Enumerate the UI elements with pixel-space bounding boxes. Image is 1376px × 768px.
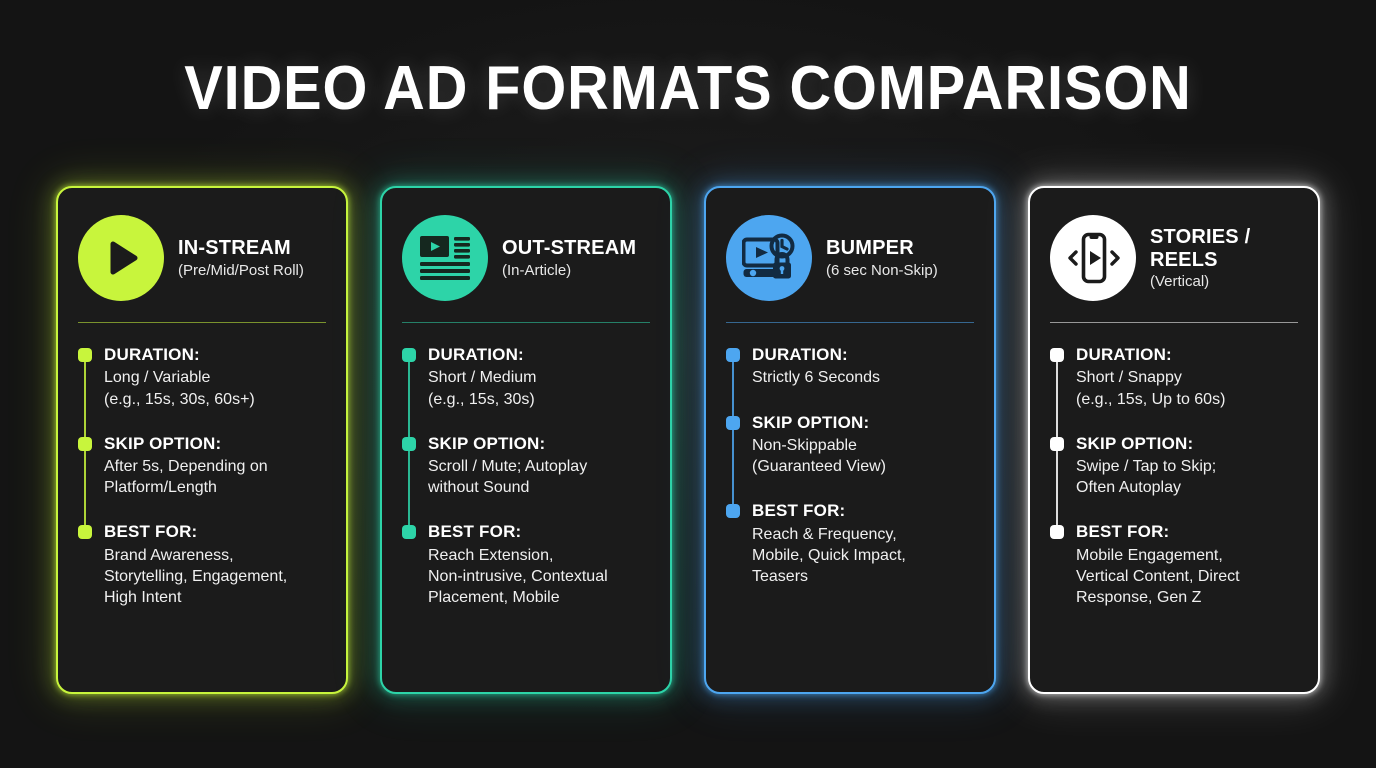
attribute-row: BEST FOR:Mobile Engagement, Vertical Con…	[1076, 522, 1298, 608]
format-subtitle: (Pre/Mid/Post Roll)	[178, 262, 304, 281]
card-header: IN-STREAM(Pre/Mid/Post Roll)	[78, 210, 326, 306]
page-title: VIDEO AD FORMATS COMPARISON	[48, 58, 1328, 120]
attribute-label: SKIP OPTION:	[104, 434, 326, 454]
format-name: BUMPER	[826, 237, 938, 259]
attribute-value: Short / Snappy (e.g., 15s, Up to 60s)	[1076, 367, 1298, 409]
attribute-label: BEST FOR:	[104, 522, 326, 542]
attribute-row: BEST FOR:Brand Awareness, Storytelling, …	[104, 522, 326, 608]
attribute-row: BEST FOR:Reach & Frequency, Mobile, Quic…	[752, 501, 974, 587]
attribute-value: Reach Extension, Non-intrusive, Contextu…	[428, 545, 650, 608]
attribute-value: Scroll / Mute; Autoplay without Sound	[428, 456, 650, 498]
bullet-marker-icon	[1050, 437, 1064, 451]
attribute-label: SKIP OPTION:	[1076, 434, 1298, 454]
phone-vertical-play-icon	[1050, 215, 1136, 301]
bullet-marker-icon	[402, 437, 416, 451]
format-card-stories-reels[interactable]: STORIES / REELS(Vertical)DURATION:Short …	[1028, 186, 1320, 694]
format-subtitle: (Vertical)	[1150, 273, 1250, 292]
bullet-marker-icon	[1050, 348, 1064, 362]
attribute-value: Short / Medium (e.g., 15s, 30s)	[428, 367, 650, 409]
attribute-row: SKIP OPTION:After 5s, Depending on Platf…	[104, 434, 326, 499]
attribute-label: BEST FOR:	[428, 522, 650, 542]
attribute-value: Brand Awareness, Storytelling, Engagemen…	[104, 545, 326, 608]
card-header-text: STORIES / REELS(Vertical)	[1150, 224, 1250, 292]
card-divider	[1050, 322, 1298, 323]
card-header-text: OUT-STREAM(In-Article)	[502, 235, 636, 280]
bullet-marker-icon	[402, 525, 416, 539]
attribute-row: SKIP OPTION:Scroll / Mute; Autoplay with…	[428, 434, 650, 499]
format-name: OUT-STREAM	[502, 237, 636, 259]
attribute-label: SKIP OPTION:	[428, 434, 650, 454]
bullet-marker-icon	[78, 437, 92, 451]
format-name: STORIES / REELS	[1150, 226, 1250, 271]
format-card-in-stream[interactable]: IN-STREAM(Pre/Mid/Post Roll)DURATION:Lon…	[56, 186, 348, 694]
attribute-row: DURATION:Short / Medium (e.g., 15s, 30s)	[428, 345, 650, 410]
attribute-label: DURATION:	[104, 345, 326, 365]
format-card-bumper[interactable]: BUMPER(6 sec Non-Skip)DURATION:Strictly …	[704, 186, 996, 694]
card-header: BUMPER(6 sec Non-Skip)	[726, 210, 974, 306]
attribute-value: Strictly 6 Seconds	[752, 367, 974, 388]
attribute-value: Non-Skippable (Guaranteed View)	[752, 435, 974, 477]
attribute-list: DURATION:Short / Snappy (e.g., 15s, Up t…	[1050, 345, 1298, 608]
bullet-marker-icon	[78, 348, 92, 362]
attribute-label: DURATION:	[752, 345, 974, 365]
attribute-value: Swipe / Tap to Skip; Often Autoplay	[1076, 456, 1298, 498]
attribute-row: BEST FOR:Reach Extension, Non-intrusive,…	[428, 522, 650, 608]
card-header-text: BUMPER(6 sec Non-Skip)	[826, 235, 938, 280]
video-clock-lock-icon	[726, 215, 812, 301]
attribute-list: DURATION:Short / Medium (e.g., 15s, 30s)…	[402, 345, 650, 608]
attribute-row: DURATION:Long / Variable (e.g., 15s, 30s…	[104, 345, 326, 410]
attribute-row: SKIP OPTION:Swipe / Tap to Skip; Often A…	[1076, 434, 1298, 499]
card-divider	[726, 322, 974, 323]
attribute-list: DURATION:Strictly 6 SecondsSKIP OPTION:N…	[726, 345, 974, 587]
attribute-label: DURATION:	[1076, 345, 1298, 365]
attribute-list: DURATION:Long / Variable (e.g., 15s, 30s…	[78, 345, 326, 608]
attribute-label: DURATION:	[428, 345, 650, 365]
format-name: IN-STREAM	[178, 237, 304, 259]
bullet-marker-icon	[402, 348, 416, 362]
attribute-value: After 5s, Depending on Platform/Length	[104, 456, 326, 498]
card-header: STORIES / REELS(Vertical)	[1050, 210, 1298, 306]
attribute-value: Mobile Engagement, Vertical Content, Dir…	[1076, 545, 1298, 608]
card-divider	[78, 322, 326, 323]
bullet-marker-icon	[726, 416, 740, 430]
format-subtitle: (In-Article)	[502, 262, 636, 281]
bullet-marker-icon	[726, 348, 740, 362]
bullet-connector-line	[732, 355, 734, 518]
attribute-value: Reach & Frequency, Mobile, Quick Impact,…	[752, 524, 974, 587]
attribute-label: SKIP OPTION:	[752, 413, 974, 433]
card-header: OUT-STREAM(In-Article)	[402, 210, 650, 306]
bullet-marker-icon	[78, 525, 92, 539]
article-video-icon	[402, 215, 488, 301]
bullet-marker-icon	[726, 504, 740, 518]
attribute-row: DURATION:Strictly 6 Seconds	[752, 345, 974, 389]
bullet-marker-icon	[1050, 525, 1064, 539]
format-card-out-stream[interactable]: OUT-STREAM(In-Article)DURATION:Short / M…	[380, 186, 672, 694]
attribute-label: BEST FOR:	[752, 501, 974, 521]
play-circle-icon	[78, 215, 164, 301]
attribute-value: Long / Variable (e.g., 15s, 30s, 60s+)	[104, 367, 326, 409]
attribute-label: BEST FOR:	[1076, 522, 1298, 542]
card-header-text: IN-STREAM(Pre/Mid/Post Roll)	[178, 235, 304, 280]
card-divider	[402, 322, 650, 323]
format-subtitle: (6 sec Non-Skip)	[826, 262, 938, 281]
format-cards-container: IN-STREAM(Pre/Mid/Post Roll)DURATION:Lon…	[56, 186, 1320, 694]
attribute-row: SKIP OPTION:Non-Skippable (Guaranteed Vi…	[752, 413, 974, 478]
attribute-row: DURATION:Short / Snappy (e.g., 15s, Up t…	[1076, 345, 1298, 410]
